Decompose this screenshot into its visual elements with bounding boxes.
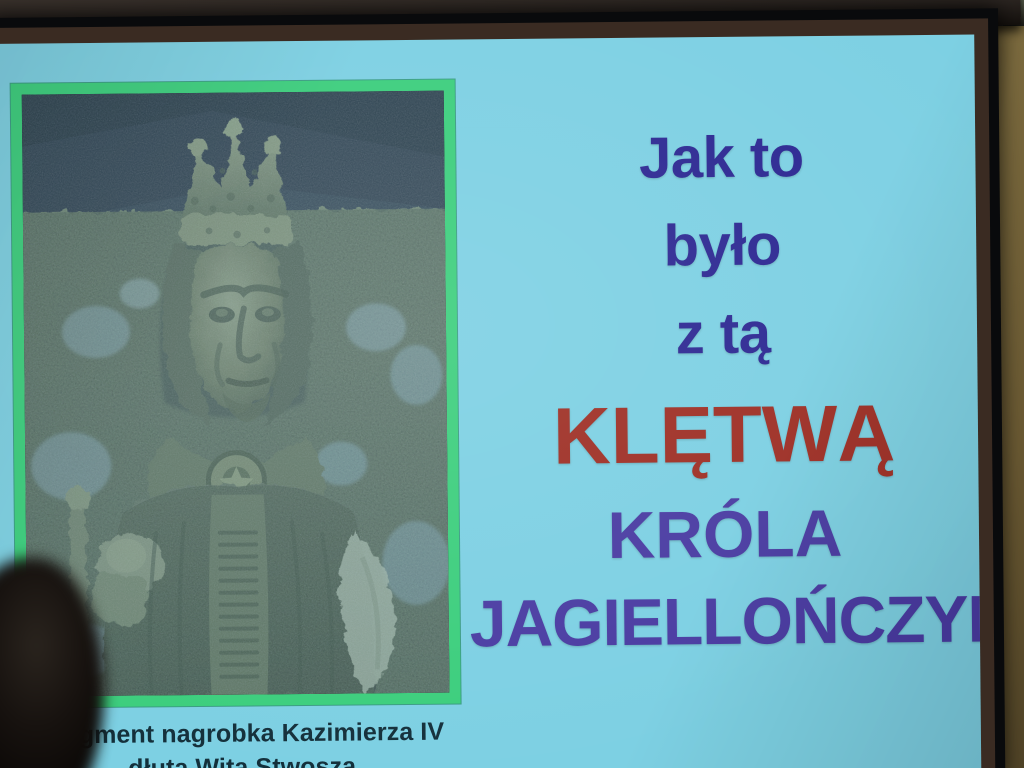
title-line-z-ta: z tą xyxy=(467,299,980,370)
presentation-slide: Fragment nagrobka Kazimierza IV dłuta Wi… xyxy=(0,35,981,768)
title-line-kletwa: KLĘTWĄ xyxy=(468,387,981,483)
slide-title-block: Jak to było z tą KLĘTWĄ KRÓLA JAGIELLOŃC… xyxy=(465,122,981,661)
projection-screen-matte: Fragment nagrobka Kazimierza IV dłuta Wi… xyxy=(0,18,995,768)
projection-screen-frame: Fragment nagrobka Kazimierza IV dłuta Wi… xyxy=(0,8,1005,768)
room-scene: Fragment nagrobka Kazimierza IV dłuta Wi… xyxy=(0,0,1024,768)
title-line-bylo: było xyxy=(466,211,979,282)
title-line-jagiellonczyka: JAGIELLOŃCZYKA xyxy=(469,581,981,661)
title-line-jak-to: Jak to xyxy=(465,122,978,193)
title-line-krola: KRÓLA xyxy=(469,494,982,574)
